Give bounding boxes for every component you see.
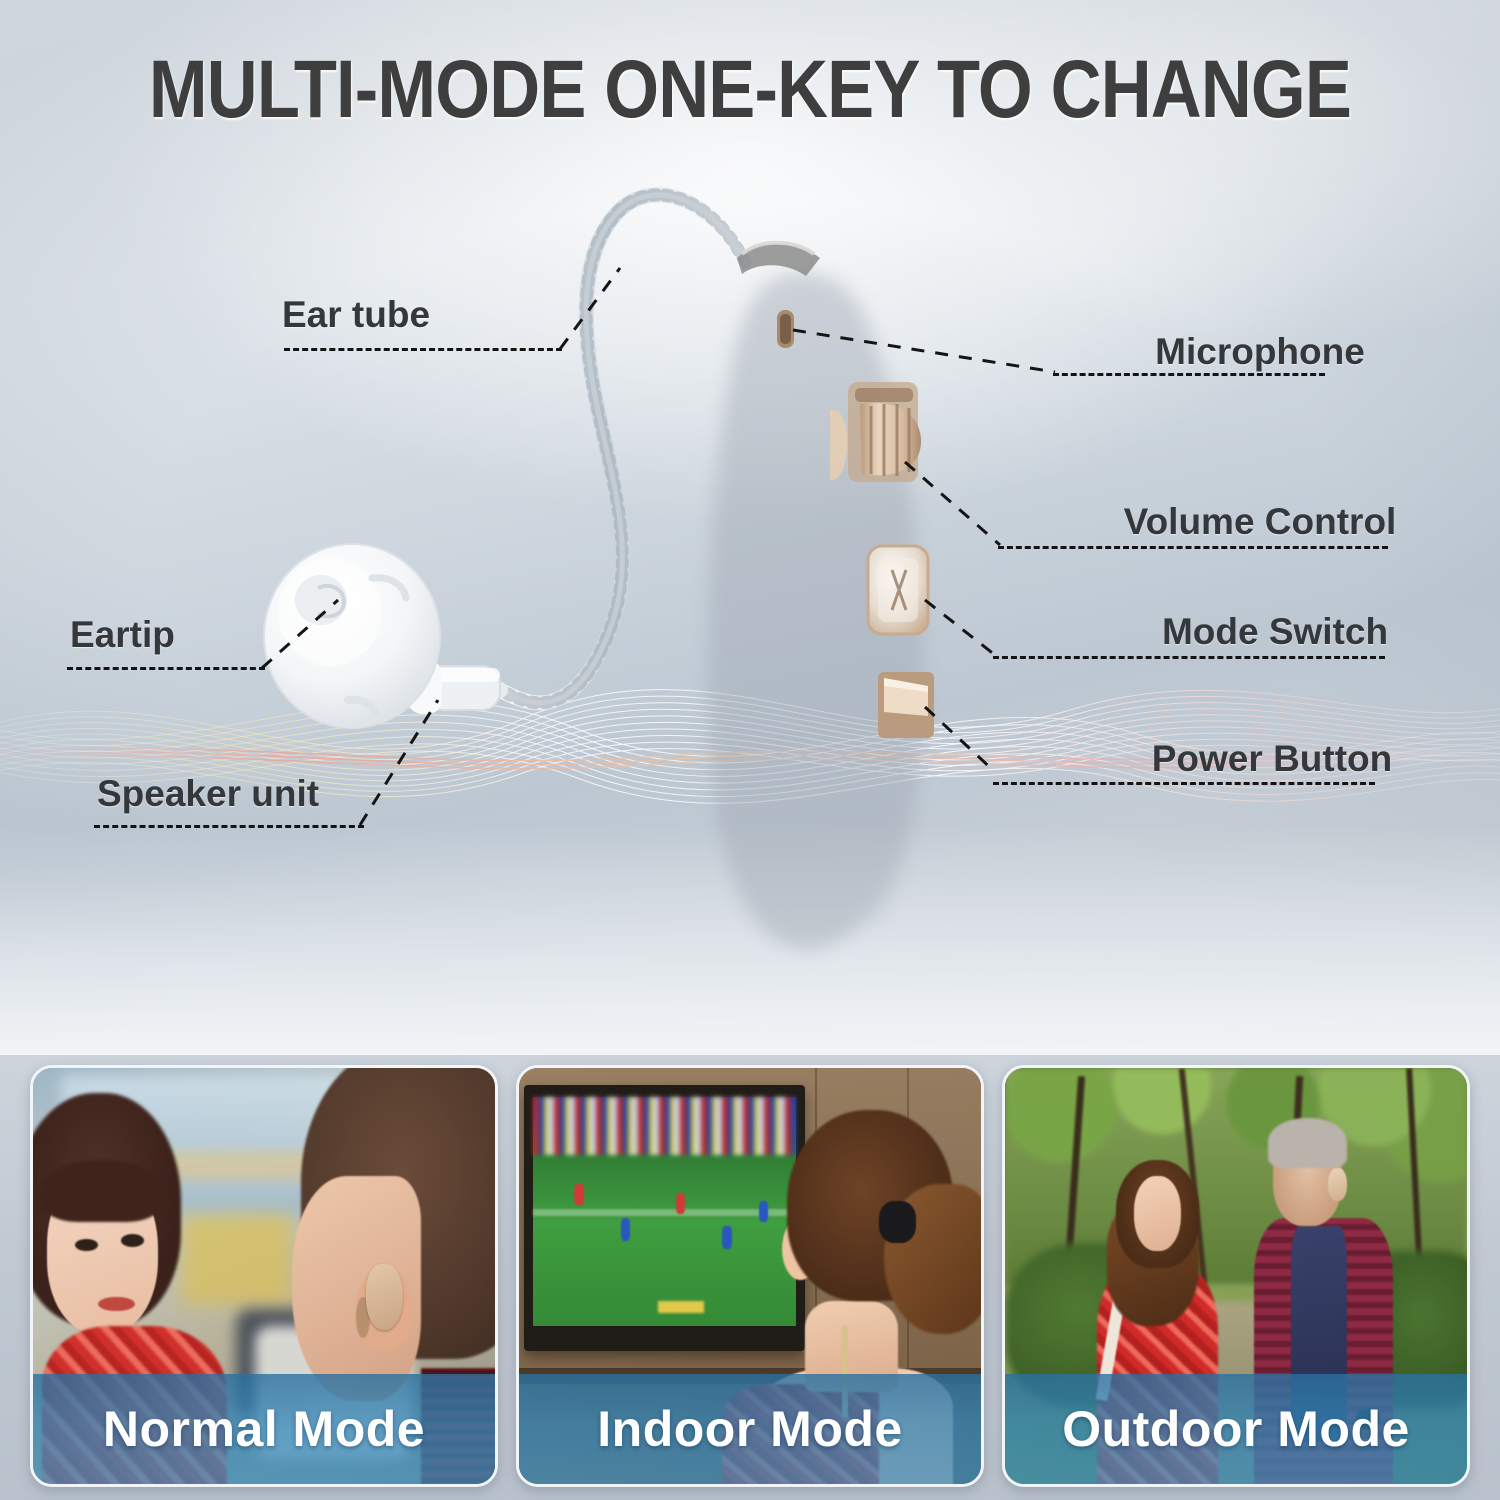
hearing-aid-on-ear [366, 1264, 403, 1331]
callout-label-ear-tube: Ear tube [282, 293, 430, 337]
callout-label-eartip: Eartip [70, 613, 175, 657]
callout-underline-ear-tube [284, 348, 562, 351]
mode-label-band-indoor: Indoor Mode [519, 1374, 981, 1484]
callout-label-power-button: Power Button [1132, 737, 1412, 781]
callout-underline-microphone [1053, 373, 1325, 376]
mode-card-outdoor[interactable]: Outdoor Mode [1002, 1065, 1470, 1487]
callout-ear-tube: Ear tube [282, 293, 430, 337]
hearing-aid-on-ear [1328, 1168, 1346, 1201]
callout-speaker-unit: Speaker unit [97, 772, 319, 816]
mode-label-outdoor: Outdoor Mode [1062, 1400, 1410, 1458]
hero-section: MULTI-MODE ONE-KEY TO CHANGE [0, 0, 1500, 1055]
microphone-port [777, 310, 794, 348]
mode-label-normal: Normal Mode [103, 1400, 425, 1458]
callout-label-microphone: Microphone [1110, 330, 1410, 374]
callout-label-speaker-unit: Speaker unit [97, 772, 319, 816]
device-diagram: Ear tube Eartip Speaker unit Microphone … [0, 0, 1500, 1055]
callout-power-button: Power Button [1132, 737, 1412, 781]
callout-underline-mode-switch [993, 656, 1385, 659]
callout-underline-eartip [67, 667, 265, 670]
mode-switch-window [868, 546, 928, 634]
power-button-tab [878, 672, 934, 738]
mode-card-normal[interactable]: Normal Mode [30, 1065, 498, 1487]
callout-underline-power-button [993, 782, 1375, 785]
callout-eartip: Eartip [70, 613, 175, 657]
product-infographic: MULTI-MODE ONE-KEY TO CHANGE [0, 0, 1500, 1500]
mode-label-band-normal: Normal Mode [33, 1374, 495, 1484]
mode-label-indoor: Indoor Mode [597, 1400, 902, 1458]
leader-lines [262, 268, 1055, 825]
callout-underline-volume-control [998, 546, 1388, 549]
callout-microphone: Microphone [1110, 330, 1410, 374]
callout-label-volume-control: Volume Control [1090, 500, 1430, 544]
callout-label-mode-switch: Mode Switch [1140, 610, 1410, 654]
callout-mode-switch: Mode Switch [1140, 610, 1410, 654]
mode-card-indoor[interactable]: Indoor Mode [516, 1065, 984, 1487]
mode-label-band-outdoor: Outdoor Mode [1005, 1374, 1467, 1484]
mode-cards-row: Normal Mode [0, 1055, 1500, 1500]
callout-underline-speaker-unit [94, 825, 364, 828]
callout-volume-control: Volume Control [1090, 500, 1430, 544]
